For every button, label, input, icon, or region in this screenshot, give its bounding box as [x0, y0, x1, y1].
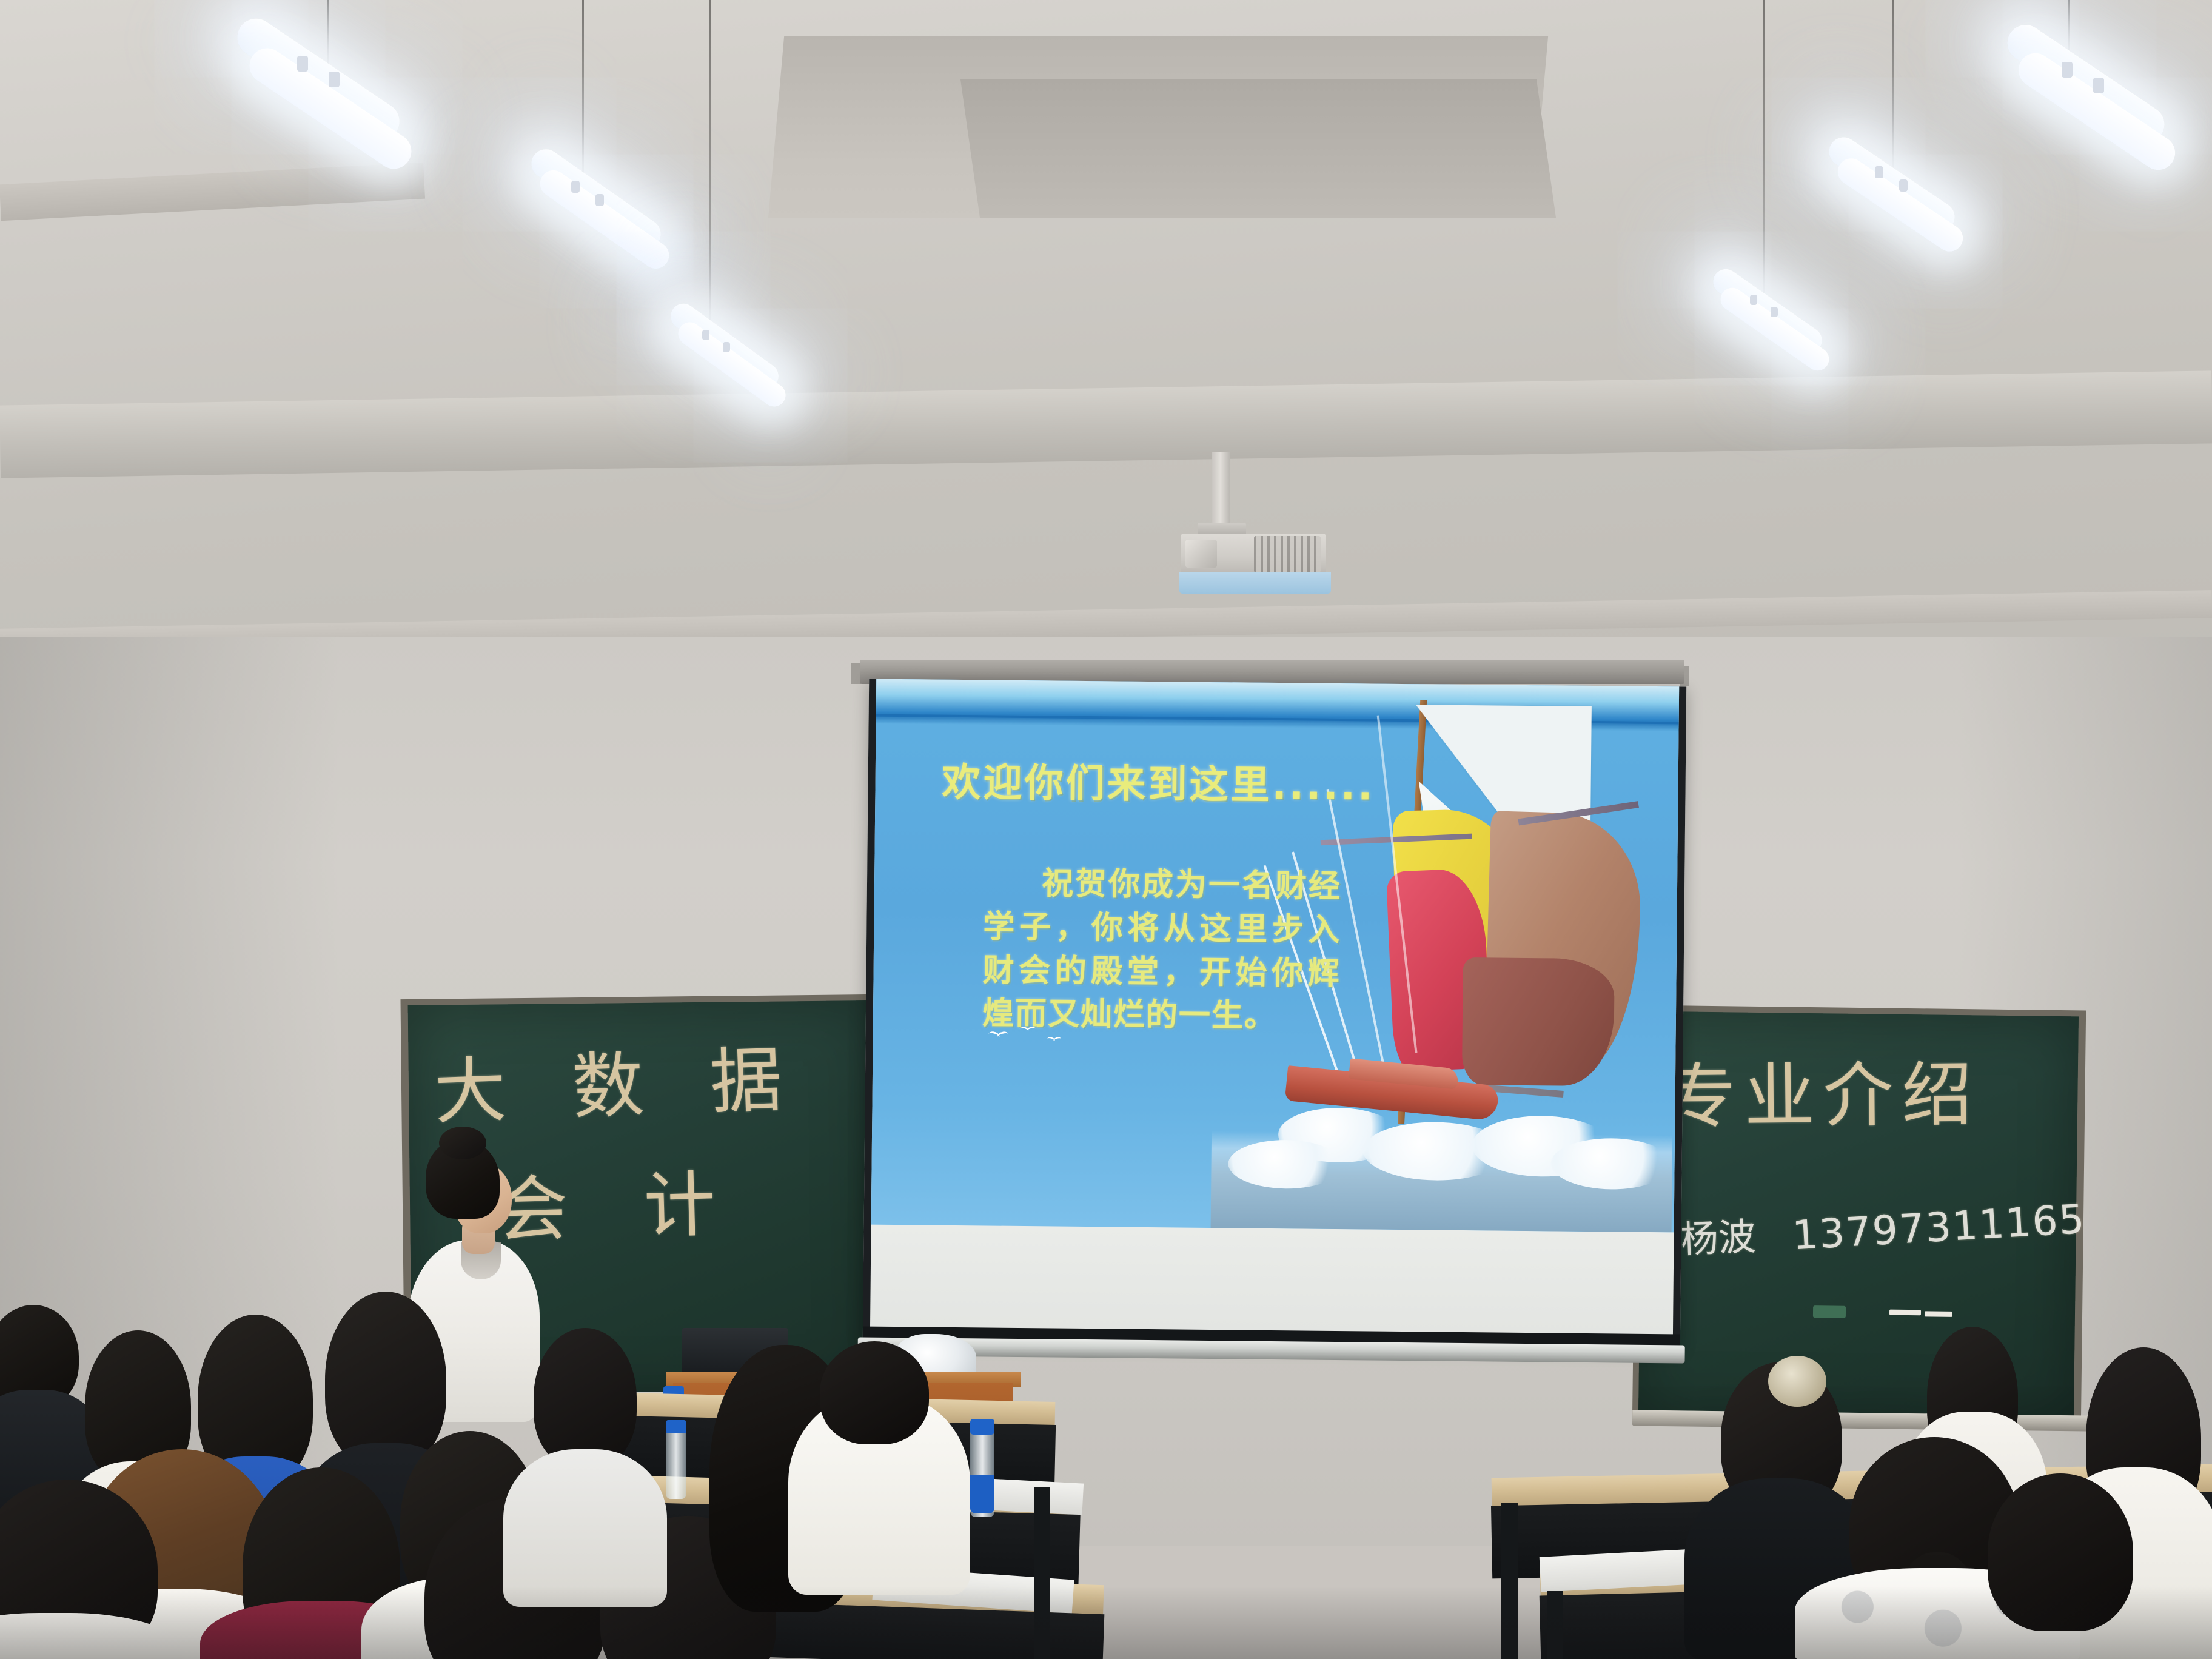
student-hair — [325, 1292, 446, 1467]
projector-vent-grille — [1254, 536, 1321, 572]
student-hair — [820, 1341, 929, 1444]
water-bottle — [666, 1426, 686, 1499]
ceiling-soffit-inner — [960, 79, 1556, 218]
projector-mount-pole — [1212, 452, 1230, 534]
bottle-label — [970, 1475, 994, 1513]
chalk-text-left-line2: 会 计 — [495, 1145, 743, 1256]
projected-slide: 欢迎你们来到这里...... 祝贺你成为一名财经学子，你将从这里步入财会的殿堂，… — [871, 679, 1680, 1233]
hair-scrunchie — [1768, 1356, 1826, 1407]
presenter-hair-bun — [439, 1127, 486, 1159]
boat-sail-crimson — [1462, 957, 1615, 1086]
student-torso — [503, 1449, 667, 1607]
bottle-cap-icon — [666, 1420, 686, 1433]
chalk-stick-2 — [1925, 1311, 1952, 1317]
blackboard-eraser — [1813, 1305, 1846, 1318]
chalk-stick-1 — [1889, 1310, 1921, 1316]
foreground-shadow — [0, 1586, 2212, 1659]
slide-title: 欢迎你们来到这里...... — [942, 751, 1375, 811]
blackboard-right: 专业介绍 杨波 13797311165 — [1638, 1011, 2079, 1416]
chalk-phone-number: 13797311165 — [1791, 1196, 2087, 1259]
chalk-text-right-heading: 专业介绍 — [1665, 1037, 1981, 1142]
classroom-scene: 大 数 据 会 计 专业介绍 杨波 13797311165 — [0, 0, 2212, 1659]
projector-base — [1179, 572, 1331, 594]
projection-screen: 欢迎你们来到这里...... 祝贺你成为一名财经学子，你将从这里步入财会的殿堂，… — [863, 679, 1686, 1348]
student-hair — [534, 1328, 637, 1467]
seagull-icon — [1047, 1037, 1062, 1043]
chalk-text-left-line1: 大 数 据 — [432, 1021, 805, 1138]
bottle-cap-icon — [970, 1419, 994, 1435]
chalk-signature: 杨波 — [1680, 1206, 1757, 1264]
slide-body-text: 祝贺你成为一名财经学子，你将从这里步入财会的殿堂，开始你辉煌而又灿烂的一生。 — [982, 862, 1342, 1039]
projector-lens-icon — [1185, 540, 1217, 568]
